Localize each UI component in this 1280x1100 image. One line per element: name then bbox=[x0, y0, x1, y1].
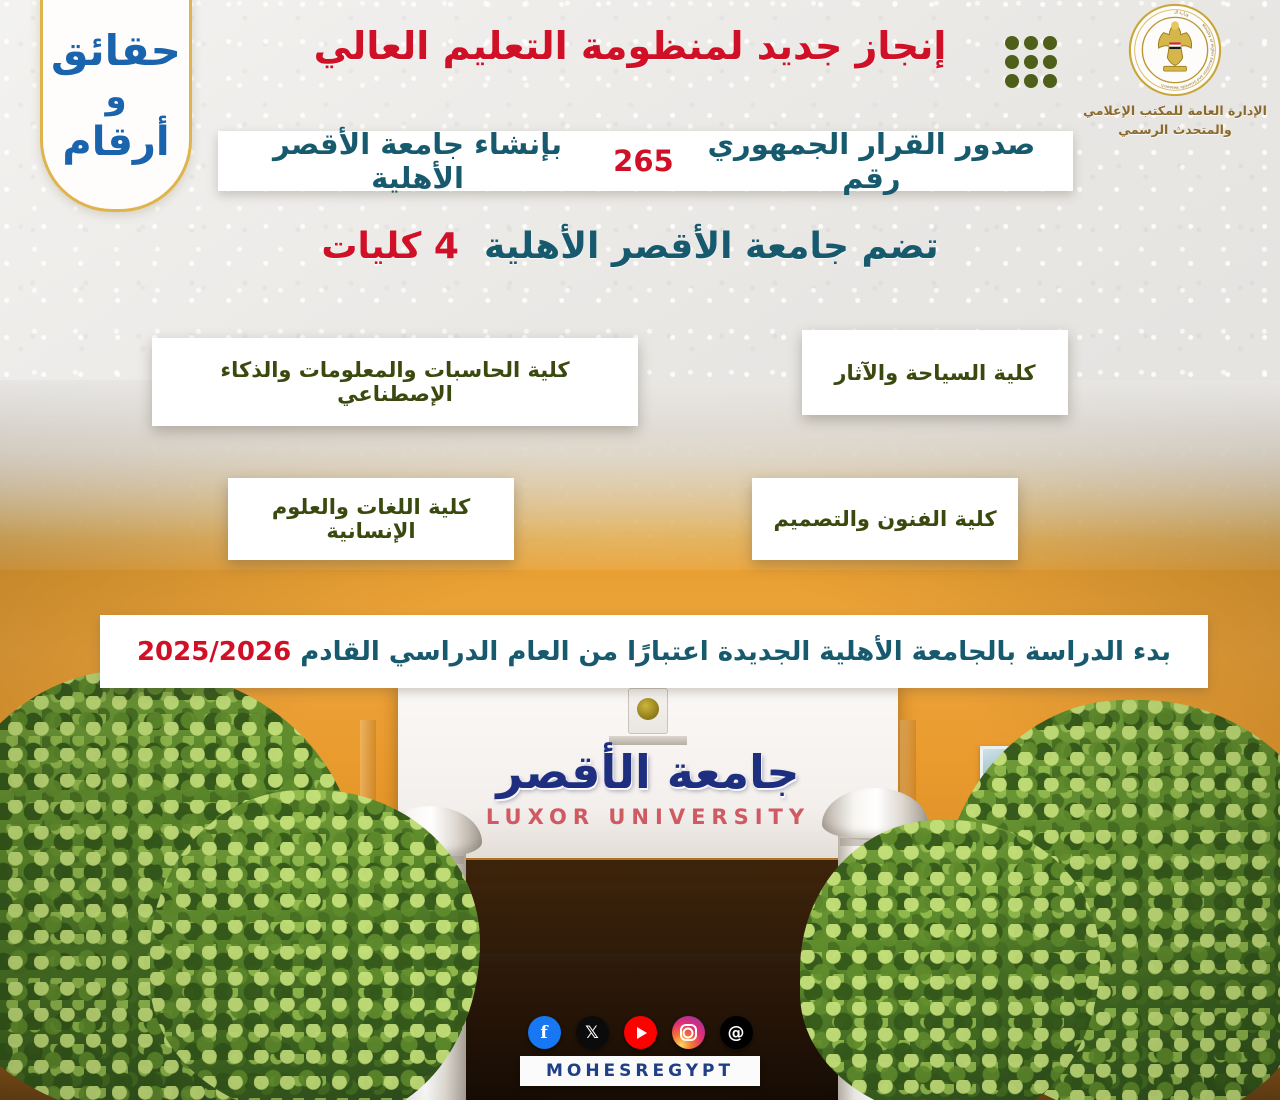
social-links: f 𝕏 @ bbox=[528, 1016, 753, 1049]
ministry-caption-line-1: الإدارة العامة للمكتب الإعلامي bbox=[1075, 102, 1275, 121]
faculty-card-label: كلية السياحة والآثار bbox=[834, 361, 1035, 385]
youtube-play-glyph bbox=[637, 1027, 647, 1039]
threads-glyph: @ bbox=[728, 1023, 745, 1043]
ministry-logo-block: وزارة التعليم العالي والبحث العلمي Minis… bbox=[1075, 2, 1275, 140]
ministry-caption: الإدارة العامة للمكتب الإعلامي والمتحدث … bbox=[1075, 102, 1275, 140]
university-building-photo: جامعة الأقصر LUXOR UNIVERSITY bbox=[0, 380, 1280, 1100]
university-name-arabic: جامعة الأقصر bbox=[398, 749, 898, 795]
badge-line-1: حقائق bbox=[51, 30, 181, 72]
faculty-card-label: كلية اللغات والعلوم الإنسانية bbox=[242, 495, 500, 543]
badge-line-3: أرقام bbox=[62, 122, 169, 162]
decree-suffix: بإنشاء جامعة الأقصر الأهلية bbox=[232, 127, 603, 195]
facts-and-numbers-badge: حقائق و أرقام bbox=[40, 0, 192, 212]
x-icon[interactable]: 𝕏 bbox=[576, 1016, 609, 1049]
faculty-card-arts: كلية الفنون والتصميم bbox=[752, 478, 1018, 560]
faculties-count-line: تضم جامعة الأقصر الأهلية 4 كليات bbox=[280, 226, 980, 267]
study-start-text: بدء الدراسة بالجامعة الأهلية الجديدة اعت… bbox=[300, 637, 1171, 667]
dots-grid-icon bbox=[1005, 36, 1057, 88]
faculties-count-value: 4 كليات bbox=[321, 226, 459, 267]
badge-line-2: و bbox=[105, 80, 126, 114]
faculties-count-prefix: تضم جامعة الأقصر الأهلية bbox=[484, 226, 939, 267]
instagram-camera-glyph bbox=[680, 1024, 697, 1041]
decree-prefix: صدور القرار الجمهوري رقم bbox=[684, 127, 1059, 195]
page-title: إنجاز جديد لمنظومة التعليم العالي bbox=[250, 22, 1010, 71]
faculty-card-languages: كلية اللغات والعلوم الإنسانية bbox=[228, 478, 514, 560]
youtube-icon[interactable] bbox=[624, 1016, 657, 1049]
infographic-poster: جامعة الأقصر LUXOR UNIVERSITY حقائق و أر… bbox=[0, 0, 1280, 1100]
university-emblem-icon bbox=[628, 688, 668, 734]
ministry-seal-icon: وزارة التعليم العالي والبحث العلمي Minis… bbox=[1127, 2, 1223, 98]
academic-year: 2025/2026 bbox=[137, 637, 291, 667]
decree-banner: صدور القرار الجمهوري رقم 265 بإنشاء جامع… bbox=[218, 131, 1073, 191]
faculty-card-tourism: كلية السياحة والآثار bbox=[802, 330, 1068, 415]
faculty-card-label: كلية الفنون والتصميم bbox=[773, 507, 996, 531]
threads-icon[interactable]: @ bbox=[720, 1016, 753, 1049]
x-glyph: 𝕏 bbox=[585, 1023, 599, 1043]
decree-number: 265 bbox=[613, 144, 674, 178]
footer: f 𝕏 @ MOHESREGYPT bbox=[0, 1016, 1280, 1086]
social-handle: MOHESREGYPT bbox=[520, 1056, 760, 1086]
sign-plinth bbox=[609, 736, 687, 745]
instagram-icon[interactable] bbox=[672, 1016, 705, 1049]
ministry-caption-line-2: والمتحدث الرسمي bbox=[1075, 121, 1275, 140]
facebook-glyph: f bbox=[540, 1023, 547, 1043]
facebook-icon[interactable]: f bbox=[528, 1016, 561, 1049]
study-start-banner: بدء الدراسة بالجامعة الأهلية الجديدة اعت… bbox=[100, 615, 1208, 688]
faculty-card-computing: كلية الحاسبات والمعلومات والذكاء الإصطنا… bbox=[152, 338, 638, 426]
faculty-card-label: كلية الحاسبات والمعلومات والذكاء الإصطنا… bbox=[166, 358, 624, 406]
